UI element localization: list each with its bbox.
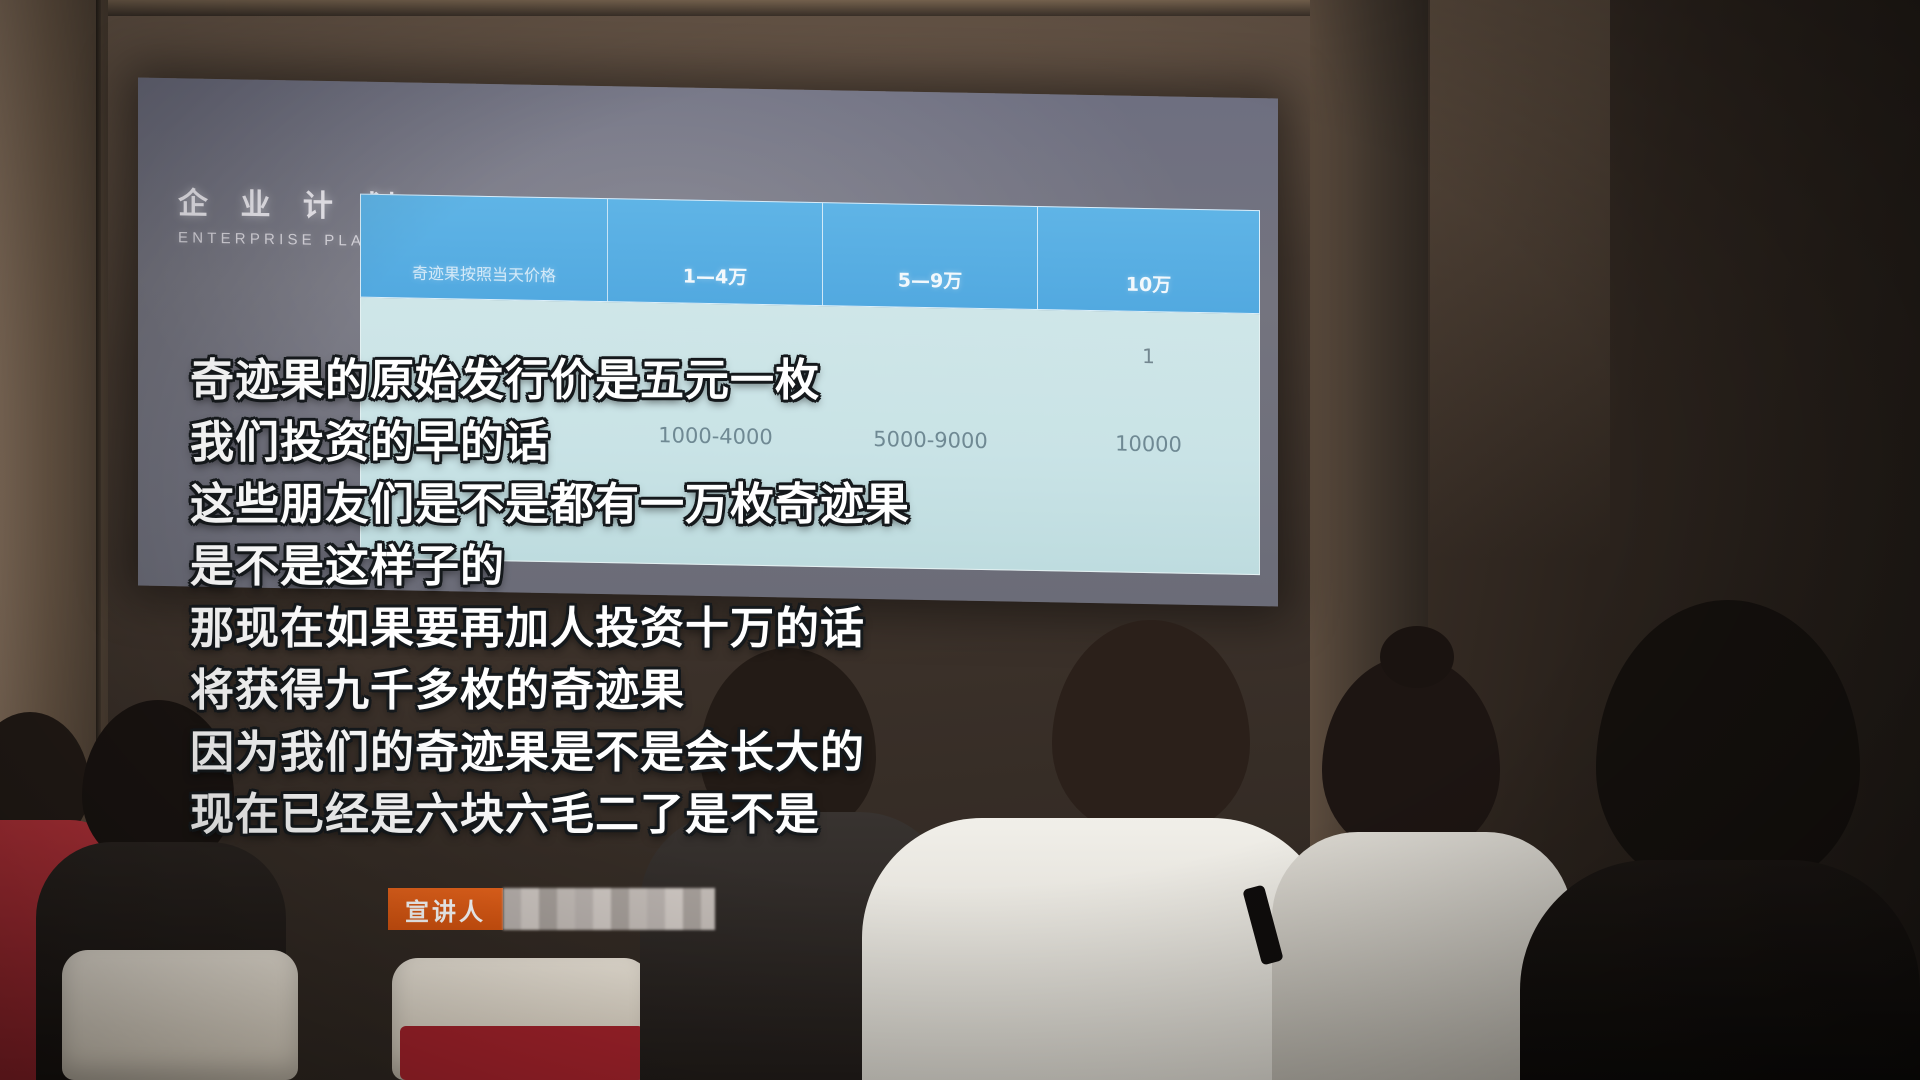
speaker-label: 宣讲人 — [388, 888, 715, 930]
subtitle-line: 因为我们的奇迹果是不是会长大的 — [190, 724, 1490, 782]
subtitle-line: 我们投资的早的话 — [190, 414, 1490, 472]
table-header-row: 奇迹果按照当天价格 1—4万 5—9万 10万 — [360, 194, 1260, 314]
subtitle-overlay: 奇迹果的原始发行价是五元一枚 我们投资的早的话 这些朋友们是不是都有一万枚奇迹果… — [190, 352, 1490, 844]
wall-panel-left — [0, 0, 108, 1080]
subtitle-line: 是不是这样子的 — [190, 538, 1490, 596]
subtitle-line: 现在已经是六块六毛二了是不是 — [190, 786, 1490, 844]
speaker-label-tag: 宣讲人 — [388, 888, 503, 930]
subtitle-line: 奇迹果的原始发行价是五元一枚 — [190, 352, 1490, 410]
screenshot-stage: 企 业 计 划 ENTERPRISE PLAN 奇迹果按照当天价格 1—4万 5… — [0, 0, 1920, 1080]
subtitle-line: 这些朋友们是不是都有一万枚奇迹果 — [190, 476, 1490, 534]
table-header-cell-2: 5—9万 — [823, 203, 1038, 309]
subtitle-line: 那现在如果要再加人投资十万的话 — [190, 600, 1490, 658]
subtitle-line: 将获得九千多枚的奇迹果 — [190, 662, 1490, 720]
table-header-cell-1: 1—4万 — [608, 199, 823, 305]
speaker-name-redacted — [503, 888, 715, 930]
table-header-cell-0: 奇迹果按照当天价格 — [361, 195, 608, 302]
wall-panel-seam — [96, 0, 101, 1080]
table-header-cell-3: 10万 — [1038, 207, 1259, 313]
